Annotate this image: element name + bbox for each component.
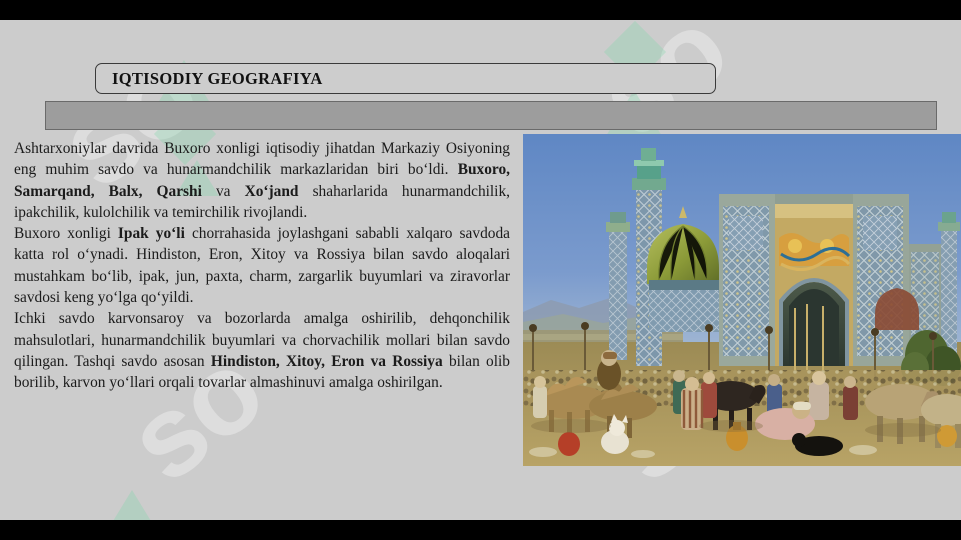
- paragraph-1-text-b: va: [202, 183, 245, 200]
- paragraph-2-text-a: Buxoro xonligi: [14, 225, 118, 242]
- slide-title-box: IQTISODIY GEOGRAFIYA: [95, 63, 716, 94]
- slide-canvas: so so so so IQTISODIY GEOGRAFIYA Ashtarx…: [0, 20, 961, 520]
- paragraph-1-bold-xojand: Xo‘jand: [245, 183, 299, 200]
- watermark-logo-icon: [110, 490, 154, 520]
- paragraph-2: Buxoro xonligi Ipak yo‘li chorrahasida j…: [14, 223, 510, 308]
- paragraph-3: Ichki savdo karvonsaroy va bozorlarda am…: [14, 308, 510, 393]
- letterbox-bar-top: [0, 0, 961, 20]
- letterbox-bar-bottom: [0, 520, 961, 540]
- page-title: IQTISODIY GEOGRAFIYA: [96, 69, 323, 89]
- body-text-column: Ashtarxoniylar davrida Buxoro xonligi iq…: [14, 138, 510, 394]
- paragraph-2-bold-silkroad: Ipak yo‘li: [118, 225, 185, 242]
- registan-painting-svg: [523, 134, 961, 466]
- slide-root: so so so so IQTISODIY GEOGRAFIYA Ashtarx…: [0, 0, 961, 540]
- header-accent-band: [45, 101, 937, 130]
- paragraph-1: Ashtarxoniylar davrida Buxoro xonligi iq…: [14, 138, 510, 223]
- paragraph-1-text-a: Ashtarxoniylar davrida Buxoro xonligi iq…: [14, 140, 510, 178]
- registan-painting-image: [523, 134, 961, 466]
- paragraph-3-bold-countries: Hindiston, Xitoy, Eron va Rossiya: [211, 353, 443, 370]
